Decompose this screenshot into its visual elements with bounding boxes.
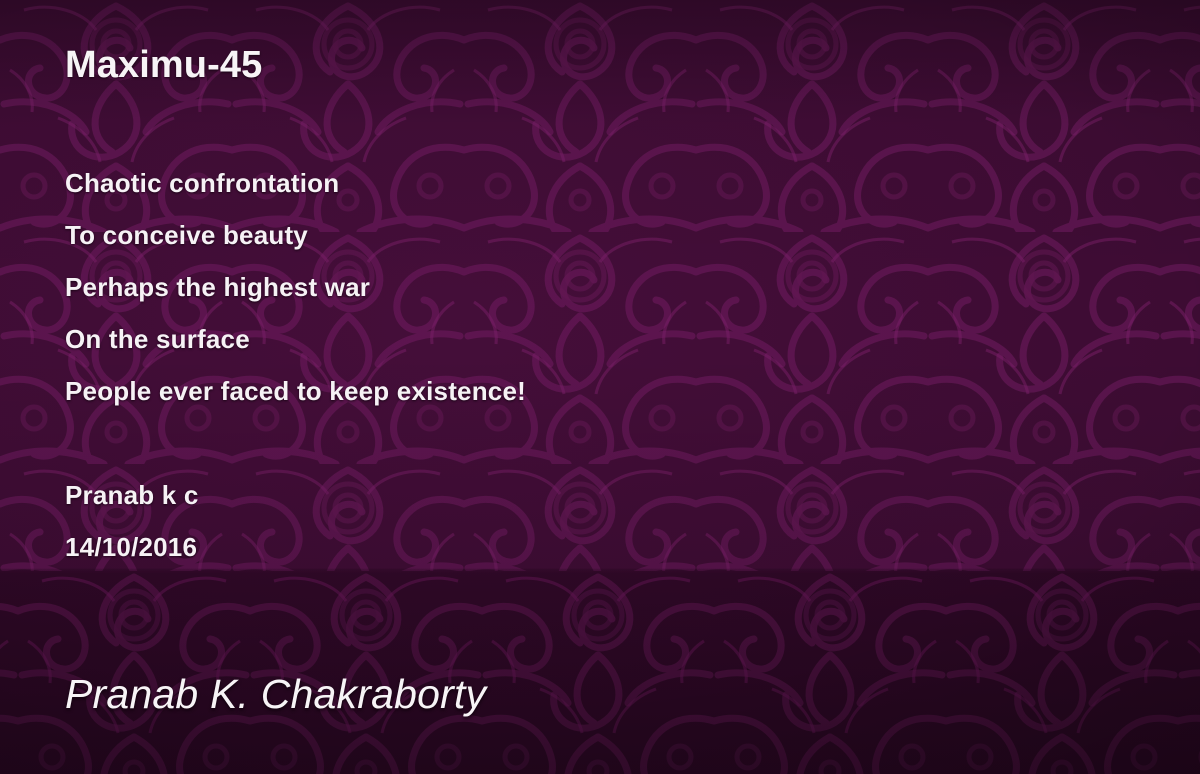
poem-body: Chaotic confrontation To conceive beauty… (65, 157, 526, 417)
poem-line: To conceive beauty (65, 209, 526, 261)
poem-line: On the surface (65, 313, 526, 365)
poem-line: Perhaps the highest war (65, 261, 526, 313)
signature-author-name: Pranab k c (65, 469, 199, 521)
poem-line: Chaotic confrontation (65, 157, 526, 209)
author-credit: Pranab K. Chakraborty (65, 671, 486, 718)
poem-image-card: Maximu-45 Chaotic confrontation To conce… (0, 0, 1200, 774)
poem-content: Maximu-45 Chaotic confrontation To conce… (65, 0, 1200, 774)
page-title: Maximu-45 (65, 46, 262, 86)
signature-date: 14/10/2016 (65, 521, 199, 573)
signature-block: Pranab k c 14/10/2016 (65, 469, 199, 573)
poem-line: People ever faced to keep existence! (65, 365, 526, 417)
